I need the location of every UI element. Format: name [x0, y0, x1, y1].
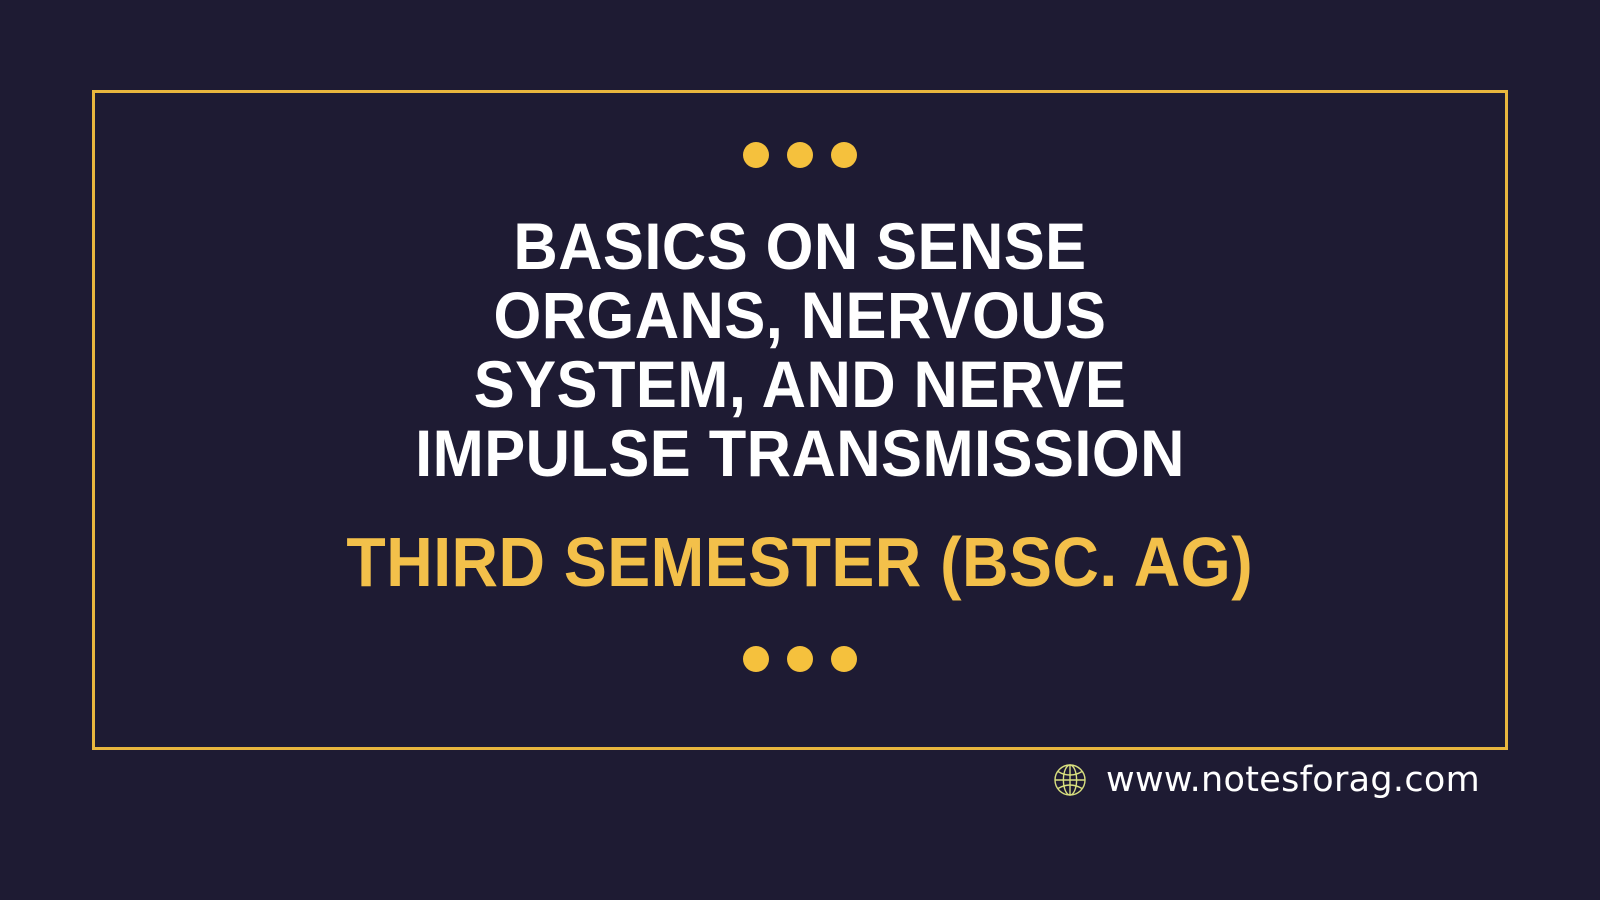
- site-url-text: www.notesforag.com: [1106, 760, 1480, 800]
- three-dots-bottom-ornament: [743, 646, 857, 672]
- dot: [831, 646, 857, 672]
- globe-icon: [1050, 760, 1090, 800]
- title-line-2: ORGANS, NERVOUS: [142, 281, 1459, 350]
- dot: [787, 142, 813, 168]
- dot: [743, 142, 769, 168]
- three-dots-top-ornament: [743, 142, 857, 168]
- page-title: BASICS ON SENSE ORGANS, NERVOUS SYSTEM, …: [92, 212, 1508, 488]
- title-line-1: BASICS ON SENSE: [142, 212, 1459, 281]
- dot: [743, 646, 769, 672]
- dot: [831, 142, 857, 168]
- title-line-3: SYSTEM, AND NERVE: [142, 350, 1459, 419]
- title-slide: BASICS ON SENSE ORGANS, NERVOUS SYSTEM, …: [0, 0, 1600, 900]
- dot: [787, 646, 813, 672]
- title-line-4: IMPULSE TRANSMISSION: [142, 419, 1459, 488]
- site-credit: www.notesforag.com: [1050, 760, 1480, 800]
- page-subtitle: THIRD SEMESTER (BSC. AG): [347, 522, 1254, 602]
- slide-content: BASICS ON SENSE ORGANS, NERVOUS SYSTEM, …: [92, 90, 1508, 750]
